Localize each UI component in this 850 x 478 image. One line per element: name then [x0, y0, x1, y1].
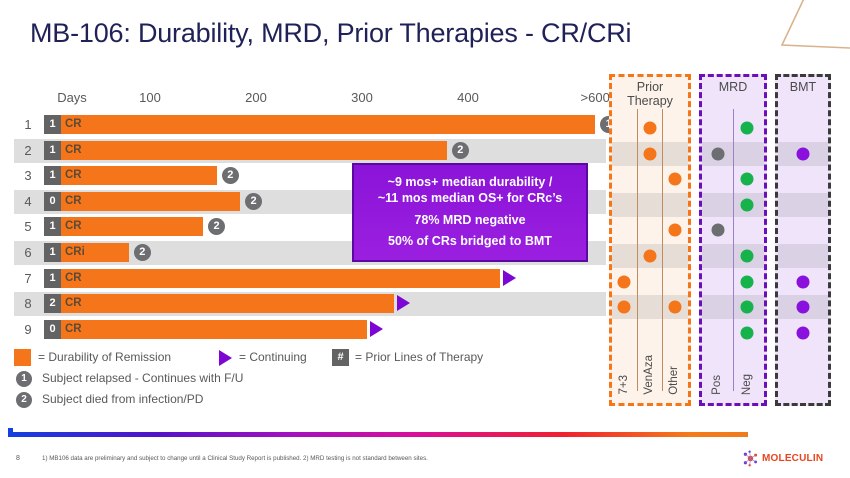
panel-row-stripe: [612, 193, 688, 217]
prior-lines-badge: 0: [44, 192, 61, 211]
callout-durability: ~9 mos+ median durability / ~11 mos medi…: [360, 175, 580, 206]
status-dot: [644, 250, 657, 263]
duration-bar: 1CR: [44, 115, 595, 134]
response-label: CR: [65, 141, 82, 160]
callout-line-2: ~11 mos median OS+ for CRc’s: [360, 191, 580, 207]
prior-lines-badge: 1: [44, 217, 61, 236]
status-dot: [644, 122, 657, 135]
legend: = Durability of Remission = Continuing #…: [14, 348, 534, 411]
moleculin-logo: MOLECULIN: [742, 450, 823, 467]
panel-divider: [637, 109, 638, 391]
status-dot: [712, 224, 725, 237]
duration-bar: 1CR: [44, 269, 500, 288]
status-dot: [712, 147, 725, 160]
axis-label-days: Days: [57, 90, 87, 105]
callout-bmt: 50% of CRs bridged to BMT: [360, 234, 580, 250]
prior-lines-badge-icon: #: [332, 349, 349, 366]
panel-bmt: BMT: [775, 74, 831, 406]
legend-row-note1: 1 Subject relapsed - Continues with F/U: [14, 369, 534, 390]
response-label: CR: [65, 294, 82, 313]
continuing-marker-icon: [397, 295, 410, 311]
corner-decoration-line: [690, 0, 850, 70]
legend-continuing-label: = Continuing: [239, 348, 307, 367]
prior-lines-badge: 1: [44, 269, 61, 288]
response-label: CR: [65, 115, 82, 134]
prior-lines-badge: 1: [44, 243, 61, 262]
panel-mrd-title: MRD: [702, 81, 764, 95]
status-dot: [741, 173, 754, 186]
status-dot: [741, 198, 754, 211]
status-dot: [797, 326, 810, 339]
axis-tick-100: 100: [139, 90, 161, 105]
response-label: CR: [65, 192, 82, 211]
status-dot: [669, 224, 682, 237]
duration-bar: 0CR: [44, 192, 240, 211]
outcome-badge: 2: [245, 193, 262, 210]
footnote: 1) MB106 data are preliminary and subjec…: [42, 455, 428, 462]
status-dot: [741, 301, 754, 314]
duration-bar: 2CR: [44, 294, 394, 313]
response-label: CR: [65, 320, 82, 339]
status-dot: [741, 326, 754, 339]
status-dot: [741, 122, 754, 135]
axis-tick-300: 300: [351, 90, 373, 105]
status-dot: [797, 301, 810, 314]
durability-swatch-icon: [14, 349, 31, 366]
callout-line-1: ~9 mos+ median durability /: [360, 175, 580, 191]
status-dot: [741, 275, 754, 288]
page-number: 8: [16, 455, 20, 462]
summary-callout: ~9 mos+ median durability / ~11 mos medi…: [352, 163, 588, 262]
page-title: MB-106: Durability, MRD, Prior Therapies…: [30, 18, 631, 49]
outcome-badge: 2: [452, 142, 469, 159]
panel-prior-therapy: Prior Therapy 7+3VenAzaOther: [609, 74, 691, 406]
duration-bar: 1CR: [44, 217, 203, 236]
prior-lines-badge: 1: [44, 115, 61, 134]
legend-durability-label: = Durability of Remission: [38, 348, 171, 367]
bottom-gradient-bar: [8, 432, 748, 437]
status-dot: [618, 301, 631, 314]
molecule-icon: [742, 450, 759, 467]
row-number: 9: [18, 318, 38, 342]
row-number: 8: [18, 292, 38, 316]
response-label: CR: [65, 166, 82, 185]
row-number: 1: [18, 113, 38, 137]
axis-tick-400: 400: [457, 90, 479, 105]
prior-lines-badge: 2: [44, 294, 61, 313]
column-label-Other: Other: [668, 366, 680, 395]
response-label: CRi: [65, 243, 85, 262]
panel-row-stripe: [778, 244, 828, 268]
status-dot: [741, 250, 754, 263]
logo-text: MOLECULIN: [762, 453, 823, 464]
panel-prior-therapy-title: Prior Therapy: [612, 81, 688, 109]
duration-bar: 0CR: [44, 320, 367, 339]
status-dot: [618, 275, 631, 288]
panel-divider: [662, 109, 663, 391]
callout-mrd: 78% MRD negative: [360, 213, 580, 229]
legend-note2-label: Subject died from infection/PD: [42, 390, 203, 409]
legend-row-note2: 2 Subject died from infection/PD: [14, 390, 534, 411]
panel-bmt-title: BMT: [778, 81, 828, 95]
row-number: 4: [18, 190, 38, 214]
column-label-Pos: Pos: [711, 375, 723, 395]
prior-lines-badge: 1: [44, 141, 61, 160]
row-number: 6: [18, 241, 38, 265]
axis-tick-200: 200: [245, 90, 267, 105]
continuing-marker-icon: [503, 270, 516, 286]
panel-divider: [733, 109, 734, 391]
response-label: CR: [65, 269, 82, 288]
died-badge-icon: 2: [16, 392, 32, 408]
row-number: 7: [18, 267, 38, 291]
legend-row-symbols: = Durability of Remission = Continuing #…: [14, 348, 534, 369]
column-label-VenAza: VenAza: [643, 355, 655, 395]
status-dot: [644, 147, 657, 160]
column-label-Neg: Neg: [741, 374, 753, 395]
duration-bar: 1CR: [44, 166, 217, 185]
panel-row-stripe: [778, 193, 828, 217]
status-dot: [669, 301, 682, 314]
row-number: 5: [18, 215, 38, 239]
continuing-triangle-icon: [219, 350, 232, 366]
continuing-marker-icon: [370, 321, 383, 337]
response-label: CR: [65, 217, 82, 236]
legend-note1-label: Subject relapsed - Continues with F/U: [42, 369, 243, 388]
panel-mrd: MRD PosNeg: [699, 74, 767, 406]
row-number: 2: [18, 139, 38, 163]
prior-lines-badge: 0: [44, 320, 61, 339]
outcome-badge: 2: [134, 244, 151, 261]
status-dot: [669, 173, 682, 186]
status-dot: [797, 275, 810, 288]
column-label-7plus3: 7+3: [618, 375, 630, 395]
duration-bar: 1CR: [44, 141, 447, 160]
legend-prior-lines-label: = Prior Lines of Therapy: [355, 348, 483, 367]
duration-bar: 1CRi: [44, 243, 129, 262]
axis-tick-gt600: >600: [581, 90, 610, 105]
outcome-badge: 2: [222, 167, 239, 184]
relapsed-badge-icon: 1: [16, 371, 32, 387]
status-dot: [797, 147, 810, 160]
prior-lines-badge: 1: [44, 166, 61, 185]
row-number: 3: [18, 164, 38, 188]
